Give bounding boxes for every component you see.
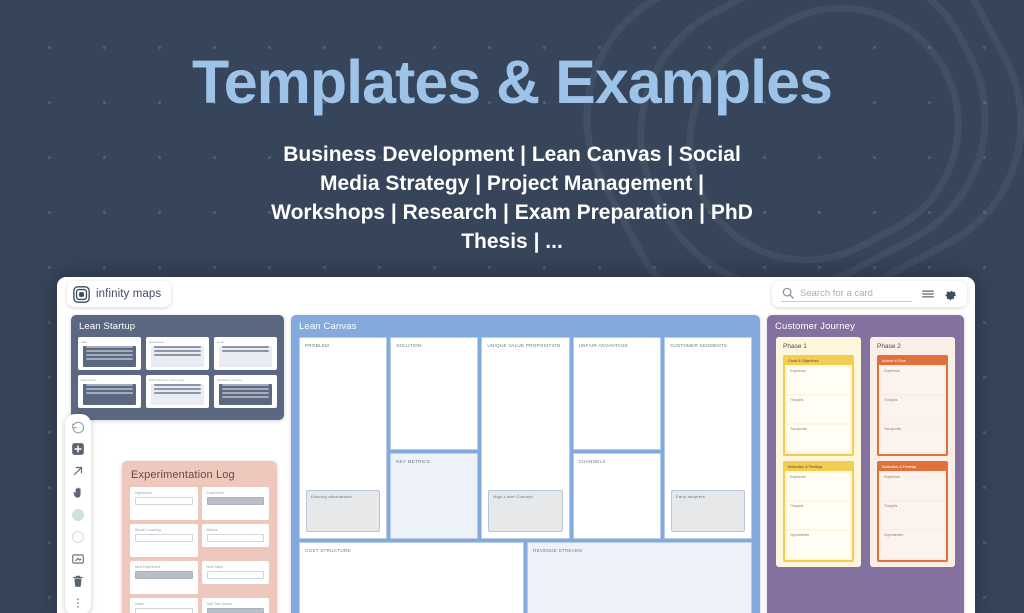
journey-item-label: Thoughts: [884, 398, 941, 402]
canvas-cell-label: SOLUTION: [396, 343, 472, 350]
journey-item[interactable]: Experience: [881, 367, 944, 394]
canvas-cell-label: PROBLEM: [305, 343, 381, 350]
log-cell-field[interactable]: [207, 571, 265, 579]
thumbnail-card[interactable]: Build Measure Learn Loop: [146, 375, 209, 408]
lean-canvas-column-uvp: UNIQUE VALUE PROPOSITION High-Level Conc…: [481, 337, 569, 539]
thumbnail-caption: Validated Learning: [217, 378, 274, 382]
search-icon: [781, 286, 795, 300]
log-cell-field[interactable]: [135, 571, 193, 579]
sticky-note-text: Existing alternatives: [311, 494, 375, 500]
thumbnail-card[interactable]: Idea: [78, 337, 141, 370]
board-lean-canvas[interactable]: Lean Canvas PROBLEM Existing alternative…: [291, 315, 760, 613]
journey-item[interactable]: Experience: [881, 473, 944, 500]
canvas-cell-cost-structure[interactable]: COST STRUCTURE: [299, 542, 524, 613]
journey-item[interactable]: Experience: [787, 473, 850, 500]
add-card-icon[interactable]: [71, 441, 86, 456]
log-cell-field[interactable]: [135, 497, 193, 505]
canvas-cell-solution[interactable]: SOLUTION: [390, 337, 478, 450]
undo-icon[interactable]: [71, 419, 86, 434]
thumbnail-card[interactable]: Hypothesis: [146, 337, 209, 370]
journey-item-label: Experience: [790, 369, 847, 373]
journey-group[interactable]: Goals & Objectives Experience Thoughts T…: [783, 355, 854, 456]
image-card-icon[interactable]: [71, 551, 86, 566]
sticky-note-text: Early adopters: [676, 494, 740, 500]
journey-item-label: Thoughts: [790, 398, 847, 402]
journey-phase[interactable]: Phase 2 Actions & Flow Experience Though…: [870, 337, 955, 567]
search-box[interactable]: [781, 286, 912, 302]
lean-startup-thumbnail-grid: Idea Hypothesis Code Experiment Build Me…: [71, 337, 284, 415]
journey-item-label: Opportunities: [790, 533, 847, 537]
canvas-cell-label: REVENUE STREAMS: [533, 548, 746, 555]
lean-canvas-column-problem: PROBLEM Existing alternatives: [299, 337, 387, 539]
canvas-cell-label: COST STRUCTURE: [305, 548, 518, 555]
board-title-lean-startup: Lean Startup: [71, 315, 284, 337]
sticky-note[interactable]: Existing alternatives: [306, 490, 380, 532]
journey-group[interactable]: Motivation & Feelings Experience Thought…: [783, 461, 854, 562]
canvas-toolbar[interactable]: [65, 414, 91, 613]
log-cell-field[interactable]: [207, 497, 265, 505]
app-window: Lean Startup Idea Hypothesis Code Experi…: [57, 277, 975, 613]
arrow-link-icon[interactable]: [71, 463, 86, 478]
thumbnail-body: [219, 384, 272, 405]
log-cell[interactable]: Experiment: [202, 487, 270, 520]
infinity-maps-logo-icon: [73, 286, 90, 303]
log-cell[interactable]: Next Steps: [202, 561, 270, 584]
canvas-cell-problem[interactable]: PROBLEM Existing alternatives: [299, 337, 387, 539]
log-cell[interactable]: Hypothesis: [130, 487, 198, 520]
thumbnail-caption: Hypothesis: [149, 340, 206, 344]
app-logo[interactable]: infinity maps: [67, 281, 171, 307]
journey-phase[interactable]: Phase 1 Goals & Objectives Experience Th…: [776, 337, 861, 567]
lean-canvas-bottom-row: COST STRUCTURE REVENUE STREAMS: [299, 542, 752, 613]
canvas-cell-unique-value-proposition[interactable]: UNIQUE VALUE PROPOSITION High-Level Conc…: [481, 337, 569, 539]
journey-item[interactable]: Thoughts: [881, 396, 944, 423]
log-cell-caption: Hypothesis: [135, 491, 193, 495]
journey-item-label: Thoughts: [884, 504, 941, 508]
journey-phase-title: Phase 1: [783, 343, 854, 350]
sticky-note[interactable]: Early adopters: [671, 490, 745, 532]
canvas-cell-label: UNFAIR ADVANTAGE: [579, 343, 655, 350]
log-cell-caption: Experiment: [207, 491, 265, 495]
log-cell-caption: Next Steps: [207, 565, 265, 569]
header-controls: [772, 281, 967, 307]
sticky-note[interactable]: High-Level Concept: [488, 490, 562, 532]
journey-item-label: Experience: [884, 369, 941, 373]
lean-canvas-column-customer-segments: CUSTOMER SEGMENTS Early adopters: [664, 337, 752, 539]
journey-item[interactable]: Opportunities: [787, 531, 850, 558]
board-lean-startup[interactable]: Lean Startup Idea Hypothesis Code Experi…: [71, 315, 284, 420]
canvas-cell-label: KEY METRICS: [396, 459, 472, 466]
canvas-cell-label: UNIQUE VALUE PROPOSITION: [487, 343, 563, 350]
canvas-cell-label: CUSTOMER SEGMENTS: [670, 343, 746, 350]
log-cell-caption: Next Experiment: [135, 565, 193, 569]
journey-item-label: Touchpoints: [884, 427, 941, 431]
thumbnail-caption: Experiment: [81, 378, 138, 382]
log-cell[interactable]: Result / Learning: [130, 524, 198, 557]
thumbnail-caption: Build Measure Learn Loop: [149, 378, 206, 382]
board-experimentation-log[interactable]: Experimentation Log Hypothesis Experimen…: [122, 461, 277, 613]
journey-item[interactable]: Thoughts: [787, 502, 850, 529]
page-title: Templates & Examples: [0, 52, 1024, 113]
hand-pan-icon[interactable]: [71, 485, 86, 500]
journey-phase-title: Phase 2: [877, 343, 948, 350]
log-cell[interactable]: Next Experiment: [130, 561, 198, 594]
canvas-cell-channels[interactable]: CHANNELS: [573, 453, 661, 539]
search-input[interactable]: [800, 288, 912, 299]
canvas-cell-revenue-streams[interactable]: REVENUE STREAMS: [527, 542, 752, 613]
hero-section: Templates & Examples Business Developmen…: [0, 0, 1024, 257]
log-cell-field[interactable]: [207, 534, 265, 542]
lean-canvas-top-row: PROBLEM Existing alternatives SOLUTION K…: [299, 337, 752, 539]
thumbnail-body: [151, 384, 204, 405]
journey-item[interactable]: Experience: [787, 367, 850, 394]
board-customer-journey[interactable]: Customer Journey Phase 1 Goals & Objecti…: [767, 315, 964, 613]
log-cell-caption: Split Test Variant: [207, 602, 265, 606]
journey-item-label: Opportunities: [884, 533, 941, 537]
lean-canvas-grid: PROBLEM Existing alternatives SOLUTION K…: [291, 337, 760, 613]
journey-item[interactable]: Thoughts: [881, 502, 944, 529]
canvas-cell-label: CHANNELS: [579, 459, 655, 466]
app-logo-text: infinity maps: [96, 288, 161, 300]
journey-group-title: Actions & Flow: [879, 357, 946, 365]
journey-group-title: Motivation & Feelings: [785, 463, 852, 471]
thumbnail-body: [83, 384, 136, 405]
gear-icon[interactable]: [944, 287, 958, 301]
thumbnail-caption: Code: [217, 340, 274, 344]
more-options-icon[interactable]: [71, 595, 86, 610]
map-canvas[interactable]: Lean Startup Idea Hypothesis Code Experi…: [57, 277, 975, 613]
log-cell-field[interactable]: [135, 534, 193, 542]
log-cell[interactable]: Metrics: [202, 524, 270, 547]
canvas-cell-key-metrics[interactable]: KEY METRICS: [390, 453, 478, 539]
log-cell-caption: Metrics: [207, 528, 265, 532]
sticky-note-text: High-Level Concept: [493, 494, 557, 500]
trash-icon[interactable]: [71, 573, 86, 588]
thumbnail-card[interactable]: Experiment: [78, 375, 141, 408]
journey-group-title: Goals & Objectives: [785, 357, 852, 365]
log-cell-field[interactable]: [207, 608, 265, 613]
journey-item-label: Experience: [884, 475, 941, 479]
journey-group[interactable]: Motivation & Feelings Experience Thought…: [877, 461, 948, 562]
board-title-customer-journey: Customer Journey: [767, 315, 964, 337]
page-subtitle: Business Development | Lean Canvas | Soc…: [262, 141, 762, 257]
lean-canvas-column-unfair-advantage: UNFAIR ADVANTAGE CHANNELS: [573, 337, 661, 539]
journey-item[interactable]: Touchpoints: [787, 425, 850, 452]
thumbnail-body: [151, 346, 204, 367]
journey-item[interactable]: Thoughts: [787, 396, 850, 423]
lean-canvas-column-solution: SOLUTION KEY METRICS: [390, 337, 478, 539]
canvas-cell-unfair-advantage[interactable]: UNFAIR ADVANTAGE: [573, 337, 661, 450]
experimentation-log-grid: Hypothesis Experiment Result / Learning …: [122, 487, 277, 613]
log-cell-caption: Notes: [135, 602, 193, 606]
hamburger-menu-icon[interactable]: [921, 287, 935, 301]
log-cell[interactable]: Split Test Variant: [202, 598, 270, 613]
thumbnail-card[interactable]: Validated Learning: [214, 375, 277, 408]
journey-item[interactable]: Opportunities: [881, 531, 944, 558]
canvas-cell-customer-segments[interactable]: CUSTOMER SEGMENTS Early adopters: [664, 337, 752, 539]
customer-journey-phases: Phase 1 Goals & Objectives Experience Th…: [767, 337, 964, 567]
board-title-experimentation-log: Experimentation Log: [122, 461, 277, 487]
journey-group-title: Motivation & Feelings: [879, 463, 946, 471]
board-title-lean-canvas: Lean Canvas: [291, 315, 760, 337]
journey-item-label: Touchpoints: [790, 427, 847, 431]
thumbnail-body: [219, 346, 272, 367]
journey-item-label: Thoughts: [790, 504, 847, 508]
thumbnail-caption: Idea: [81, 340, 138, 344]
thumbnail-card[interactable]: Code: [214, 337, 277, 370]
journey-item-label: Experience: [790, 475, 847, 479]
journey-item[interactable]: Touchpoints: [881, 425, 944, 452]
log-cell[interactable]: Notes: [130, 598, 198, 613]
color-filled-circle-icon[interactable]: [71, 507, 86, 522]
journey-group[interactable]: Actions & Flow Experience Thoughts Touch…: [877, 355, 948, 456]
log-cell-field[interactable]: [135, 608, 193, 613]
color-empty-circle-icon[interactable]: [71, 529, 86, 544]
thumbnail-body: [83, 346, 136, 367]
log-cell-caption: Result / Learning: [135, 528, 193, 532]
